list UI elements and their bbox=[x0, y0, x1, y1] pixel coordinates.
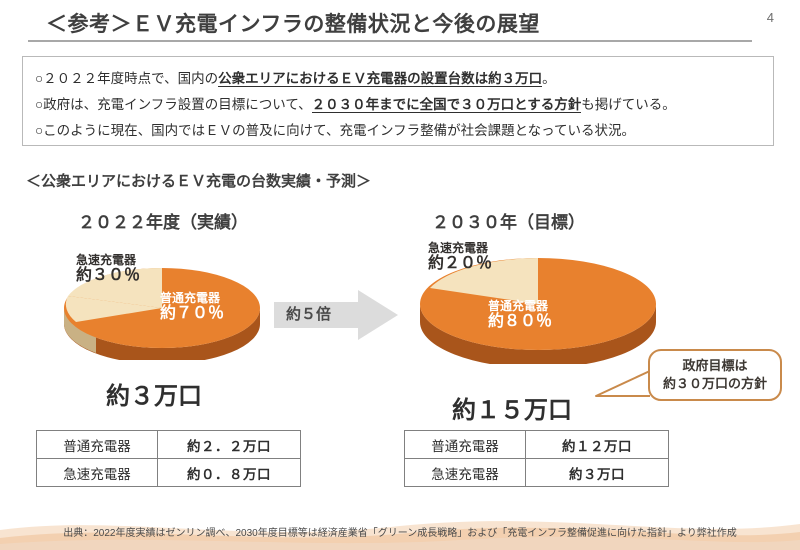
total-label-2030: 約１５万口 bbox=[452, 390, 572, 425]
callout-tail-icon bbox=[592, 366, 654, 402]
bullet-mark: ○ bbox=[35, 71, 43, 86]
slide-root: ＜参考＞ＥＶ充電インフラの整備状況と今後の展望 4 ○２０２２年度時点で、国内の… bbox=[0, 0, 800, 550]
government-target-callout: 政府目標は 約３０万口の方針 bbox=[648, 349, 782, 401]
table-cell-value: 約０．８万口 bbox=[158, 459, 301, 487]
bullet-item: ○このように現在、国内ではＥＶの普及に向けて、充電インフラ整備が社会課題となって… bbox=[35, 118, 761, 144]
bullet-text-pre: ２０２２年度時点で、国内の bbox=[43, 71, 218, 86]
total-label-2022: 約３万口 bbox=[106, 376, 202, 411]
bullet-mark: ○ bbox=[35, 97, 43, 112]
table-cell-label: 普通充電器 bbox=[405, 431, 526, 459]
table-cell-value: 約２．２万口 bbox=[158, 431, 301, 459]
bullet-mark: ○ bbox=[35, 123, 43, 138]
bullet-text-pre: このように現在、国内ではＥＶの普及に向けて、充電インフラ整備が社会課題となってい… bbox=[43, 123, 635, 138]
bullet-item: ○政府は、充電インフラ設置の目標について、２０３０年までに全国で３０万口とする方… bbox=[35, 92, 761, 118]
table-cell-label: 急速充電器 bbox=[37, 459, 158, 487]
table-cell-value: 約３万口 bbox=[526, 459, 669, 487]
table-row: 急速充電器 約３万口 bbox=[405, 459, 669, 487]
chart-title-2030: ２０３０年（目標） bbox=[432, 208, 585, 233]
section-heading: ＜公衆エリアにおけるＥＶ充電の台数実績・予測＞ bbox=[26, 170, 371, 191]
bullet-item: ○２０２２年度時点で、国内の公衆エリアにおけるＥＶ充電器の設置台数は約３万口。 bbox=[35, 66, 761, 92]
table-row: 急速充電器 約０．８万口 bbox=[37, 459, 301, 487]
callout-line-1: 政府目標は bbox=[682, 357, 747, 375]
growth-arrow-label: 約５倍 bbox=[286, 303, 331, 324]
bullet-text-post: も掲げている。 bbox=[581, 97, 676, 112]
source-note: 出典：2022年度実績はゼンリン調べ、2030年度目標等は経済産業省「グリーン成… bbox=[0, 524, 800, 539]
pie-chart-2030 bbox=[418, 244, 658, 364]
callout-line-2: 約３０万口の方針 bbox=[663, 375, 767, 393]
summary-box: ○２０２２年度時点で、国内の公衆エリアにおけるＥＶ充電器の設置台数は約３万口。 … bbox=[22, 56, 774, 146]
page-title: ＜参考＞ＥＶ充電インフラの整備状況と今後の展望 bbox=[46, 8, 540, 38]
pie-chart-2022 bbox=[62, 256, 262, 360]
bullet-text-emphasis: 公衆エリアにおけるＥＶ充電器の設置台数は約３万口 bbox=[218, 71, 542, 87]
chart-title-2022: ２０２２年度（実績） bbox=[78, 208, 248, 233]
bullet-text-emphasis: ２０３０年までに全国で３０万口とする方針 bbox=[312, 97, 582, 113]
page-number: 4 bbox=[767, 10, 774, 25]
table-row: 普通充電器 約２．２万口 bbox=[37, 431, 301, 459]
bullet-text-post: 。 bbox=[542, 71, 556, 86]
table-row: 普通充電器 約１２万口 bbox=[405, 431, 669, 459]
title-underline bbox=[28, 40, 752, 42]
breakdown-table-2022: 普通充電器 約２．２万口 急速充電器 約０．８万口 bbox=[36, 430, 301, 487]
table-cell-value: 約１２万口 bbox=[526, 431, 669, 459]
table-cell-label: 普通充電器 bbox=[37, 431, 158, 459]
table-cell-label: 急速充電器 bbox=[405, 459, 526, 487]
breakdown-table-2030: 普通充電器 約１２万口 急速充電器 約３万口 bbox=[404, 430, 669, 487]
bullet-text-pre: 政府は、充電インフラ設置の目標について、 bbox=[43, 97, 312, 112]
